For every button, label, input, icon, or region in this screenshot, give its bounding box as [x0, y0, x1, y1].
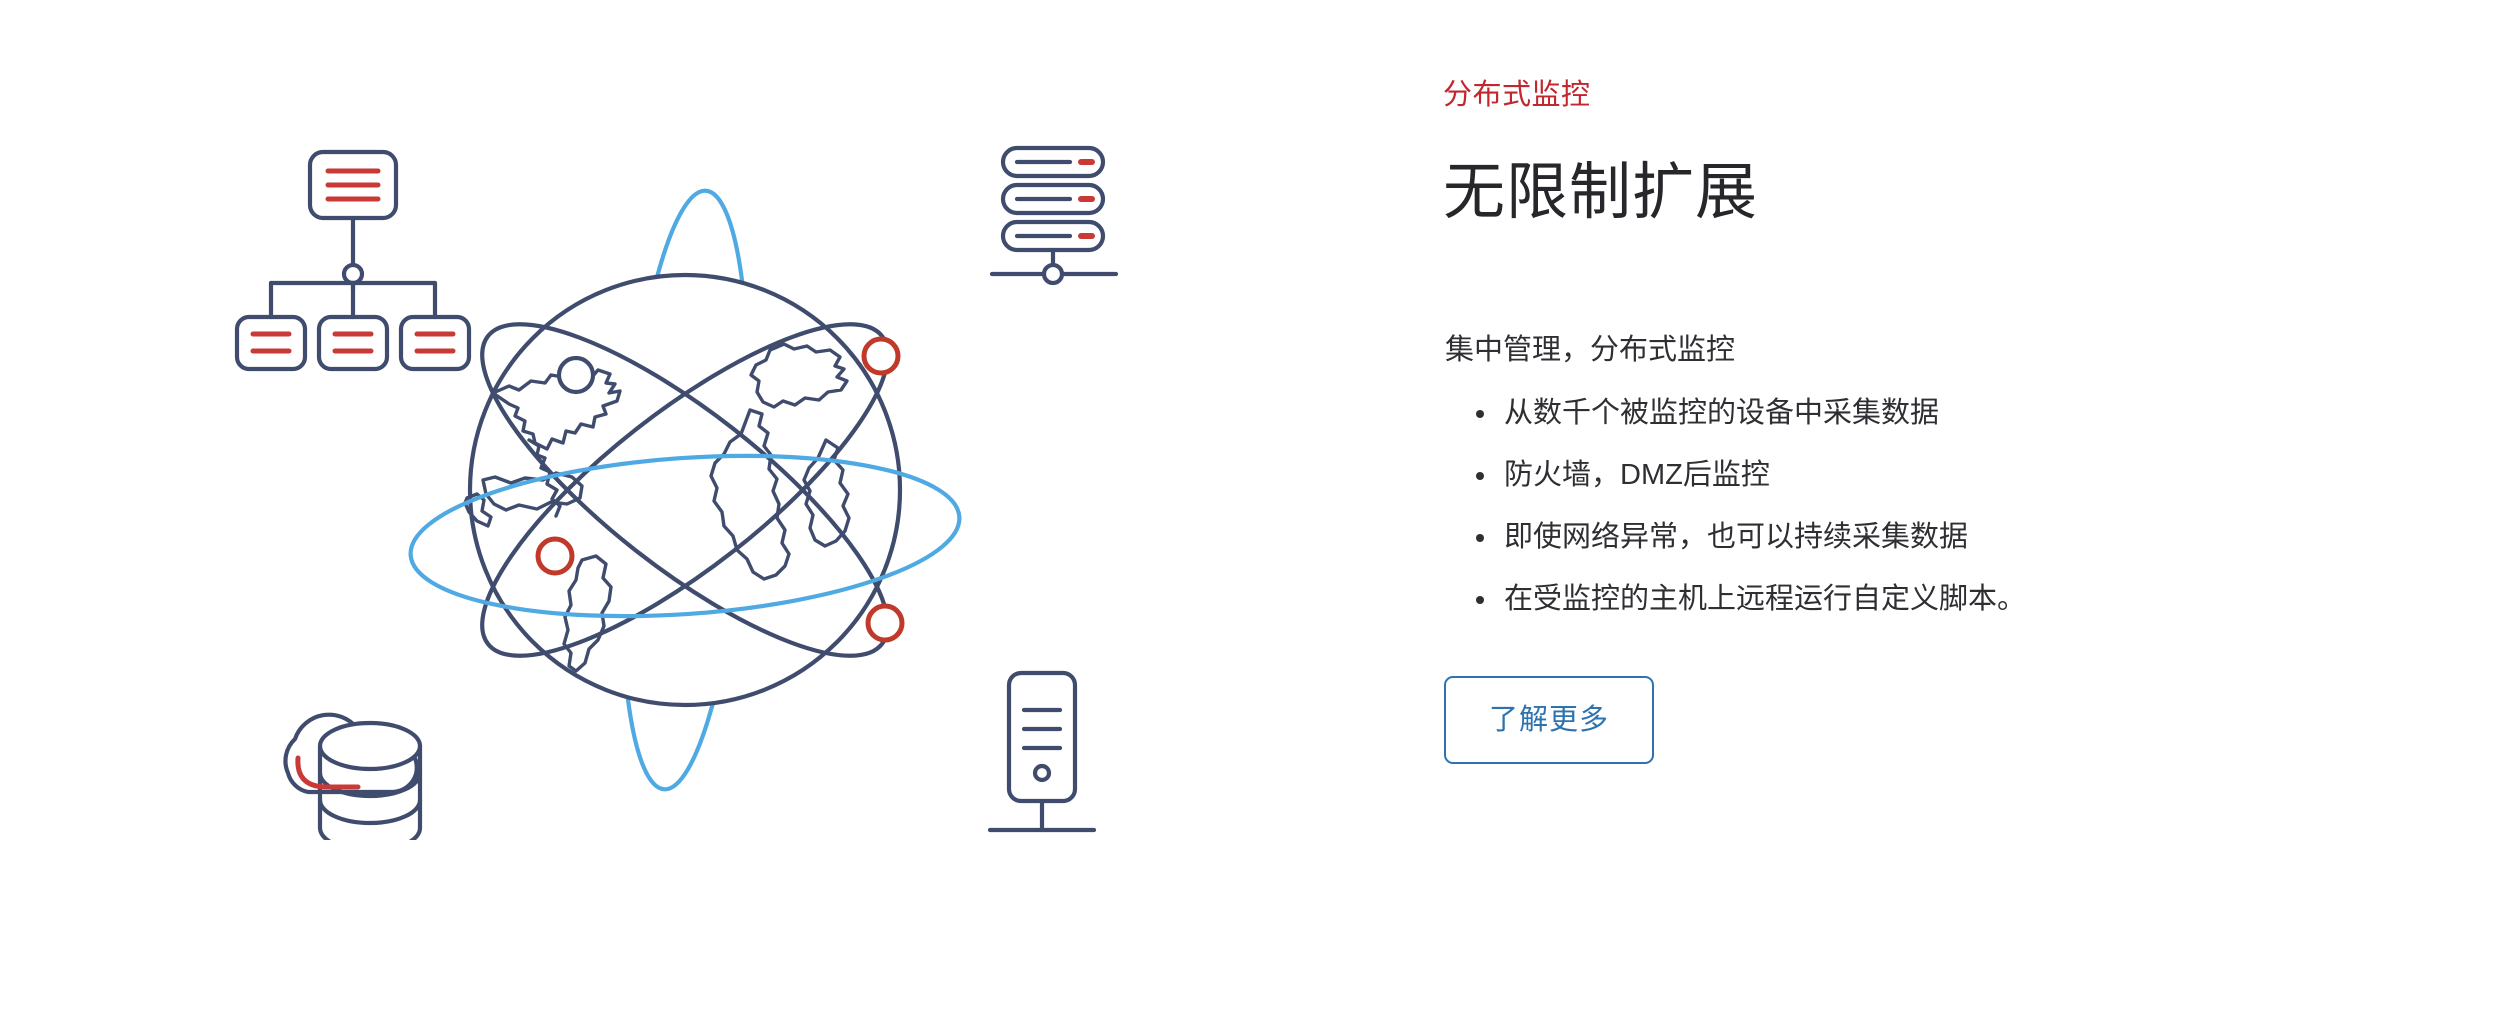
- computer-tower-icon: [990, 673, 1094, 830]
- section-eyebrow: 分布式监控: [1443, 78, 1591, 113]
- bullet-dot-icon: [1476, 472, 1484, 480]
- list-item-label: 即使网络异常，也可以持续采集数据: [1504, 521, 1968, 553]
- globe-sphere: [470, 275, 900, 705]
- list-item: 从数千个被监控的设备中采集数据: [1443, 392, 2026, 434]
- feature-bullet-list: 从数千个被监控的设备中采集数据 防火墙，DMZ后监控 即使网络异常，也可以持续采…: [1443, 392, 2026, 620]
- illustration-pane: [0, 0, 1420, 1032]
- globe-node-marker-white: [559, 358, 593, 392]
- page-title: 无限制扩展: [1443, 156, 1758, 230]
- copy-pane: 分布式监控 无限制扩展 集中管理，分布式监控 从数千个被监控的设备中采集数据 防…: [1443, 0, 2443, 1032]
- list-item-label: 防火墙，DMZ后监控: [1504, 459, 1770, 491]
- globe-icon: [405, 187, 965, 794]
- bullet-dot-icon: [1476, 410, 1484, 418]
- bullet-dot-icon: [1476, 596, 1484, 604]
- cloud-database-icon: [285, 715, 420, 840]
- feature-section: 分布式监控 无限制扩展 集中管理，分布式监控 从数千个被监控的设备中采集数据 防…: [0, 0, 2520, 1032]
- list-item: 在受监控的主机上远程运行自定义脚本。: [1443, 578, 2026, 620]
- server-stack-icon-indicators: [1017, 162, 1092, 236]
- learn-more-button[interactable]: 了解更多: [1444, 676, 1654, 764]
- globe-node-marker-red-3: [868, 606, 902, 640]
- globe-node-marker-red-2: [538, 539, 572, 573]
- distributed-monitoring-illustration: [230, 140, 1140, 840]
- list-item-label: 在受监控的主机上远程运行自定义脚本。: [1504, 583, 2026, 615]
- list-item: 防火墙，DMZ后监控: [1443, 454, 2026, 496]
- bullet-dot-icon: [1476, 534, 1484, 542]
- section-subtitle: 集中管理，分布式监控: [1445, 329, 1735, 371]
- list-item: 即使网络异常，也可以持续采集数据: [1443, 516, 2026, 558]
- server-stack-icon: [992, 148, 1116, 283]
- list-item-label: 从数千个被监控的设备中采集数据: [1504, 397, 1939, 429]
- globe-node-marker-red-1: [864, 339, 898, 373]
